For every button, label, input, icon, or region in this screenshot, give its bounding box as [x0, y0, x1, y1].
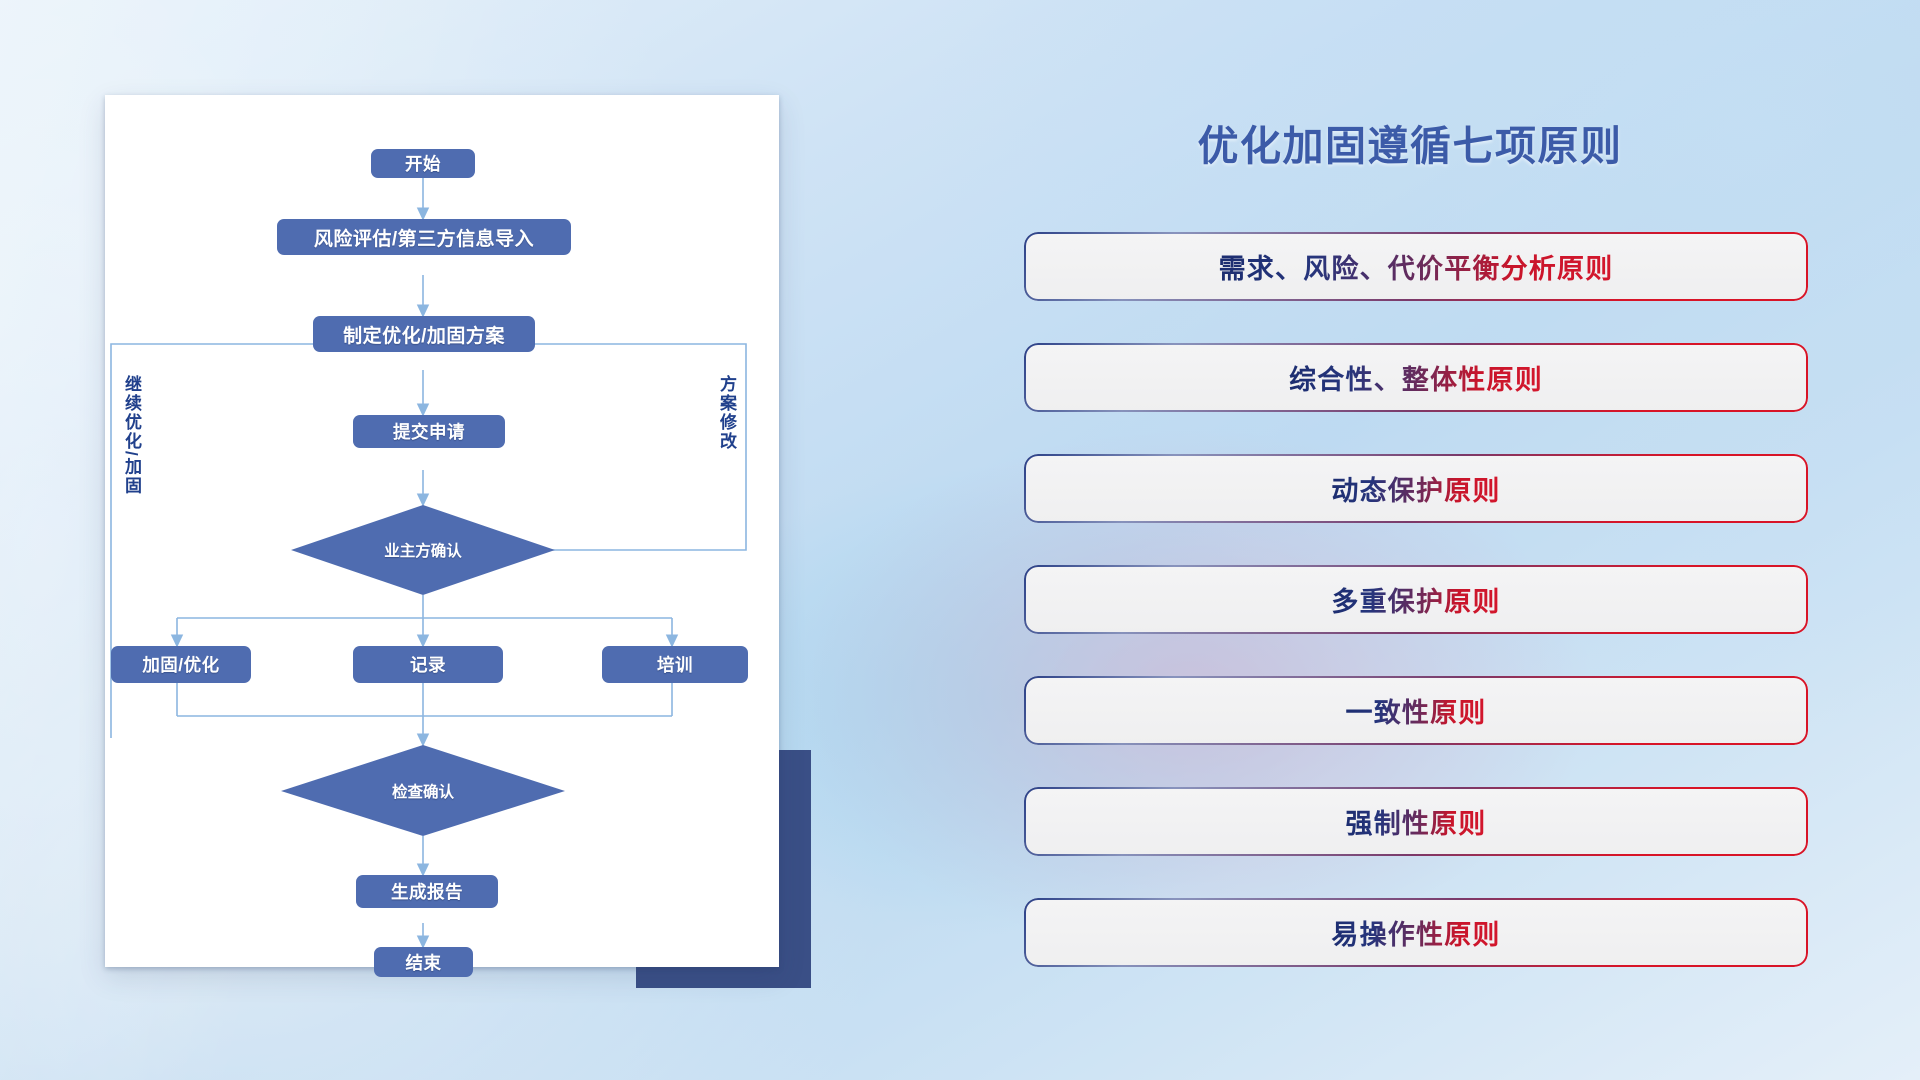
flow-node-owner-confirm-label[interactable]: 业主方确认	[363, 539, 483, 561]
principle-card[interactable]: 需求、风险、代价平衡分析原则	[1024, 232, 1808, 301]
flow-node-end[interactable]: 结束	[374, 947, 473, 977]
principle-label: 动态保护原则	[1331, 469, 1500, 508]
flow-edge-label-continue-optimize: 继续优化/加固	[123, 375, 140, 545]
page-title: 优化加固遵循七项原则	[1030, 112, 1790, 172]
flow-edge-label-plan-revision: 方案修改	[718, 375, 735, 495]
principles-list: 需求、风险、代价平衡分析原则 综合性、整体性原则 动态保护原则 多重保护原则 一…	[1024, 232, 1808, 1009]
principle-card[interactable]: 易操作性原则	[1024, 898, 1808, 967]
principle-label: 综合性、整体性原则	[1289, 358, 1543, 397]
principle-card[interactable]: 强制性原则	[1024, 787, 1808, 856]
flowchart: 开始 风险评估/第三方信息导入 制定优化/加固方案 提交申请 业主方确认 加固/…	[105, 95, 779, 967]
flow-node-harden-optimize[interactable]: 加固/优化	[111, 646, 251, 683]
flow-node-start[interactable]: 开始	[371, 149, 475, 178]
principle-card[interactable]: 一致性原则	[1024, 676, 1808, 745]
flow-node-submit-application[interactable]: 提交申请	[353, 415, 505, 448]
flow-node-training[interactable]: 培训	[602, 646, 748, 683]
principle-card[interactable]: 多重保护原则	[1024, 565, 1808, 634]
flowchart-paper: 开始 风险评估/第三方信息导入 制定优化/加固方案 提交申请 业主方确认 加固/…	[105, 95, 779, 967]
flow-node-generate-report[interactable]: 生成报告	[356, 875, 498, 908]
principle-label: 一致性原则	[1346, 691, 1487, 730]
flow-node-inspection-confirm-label[interactable]: 检查确认	[363, 780, 483, 802]
flow-node-make-plan[interactable]: 制定优化/加固方案	[313, 316, 535, 352]
principle-label: 易操作性原则	[1331, 913, 1500, 952]
principle-label: 多重保护原则	[1331, 580, 1500, 619]
flow-node-risk-assessment[interactable]: 风险评估/第三方信息导入	[277, 219, 571, 255]
principle-label: 强制性原则	[1346, 802, 1487, 841]
principle-label: 需求、风险、代价平衡分析原则	[1219, 247, 1614, 286]
flow-node-record[interactable]: 记录	[353, 646, 503, 683]
principle-card[interactable]: 综合性、整体性原则	[1024, 343, 1808, 412]
principle-card[interactable]: 动态保护原则	[1024, 454, 1808, 523]
